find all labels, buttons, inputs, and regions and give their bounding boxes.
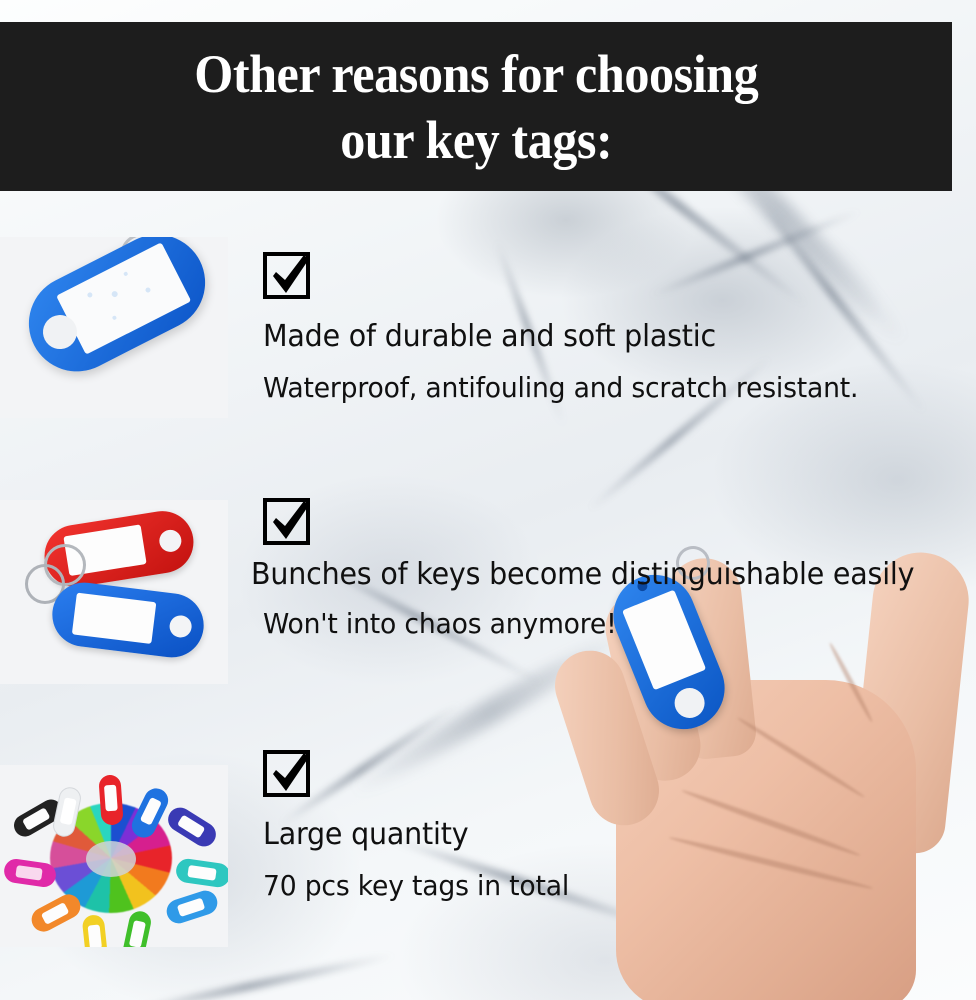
header-banner: Other reasons for choosing our key tags:	[0, 22, 952, 191]
blue-key-tag	[49, 579, 208, 661]
promo-page: Other reasons for choosing our key tags:	[0, 0, 976, 1000]
feature-3-subtitle: 70 pcs key tags in total	[263, 868, 569, 904]
checkbox-1[interactable]	[263, 252, 310, 299]
feature-thumbnail-3	[0, 765, 228, 947]
checkbox-2[interactable]	[263, 498, 310, 545]
feature-thumbnail-2	[0, 500, 228, 684]
header-line-1: Other reasons for choosing	[194, 41, 758, 107]
feature-1-title: Made of durable and soft plastic	[263, 318, 858, 356]
feature-2-title: Bunches of keys become distinguishable e…	[251, 556, 914, 594]
feature-thumbnail-1	[0, 237, 228, 418]
feature-2-text: Bunches of keys become distinguishable e…	[251, 556, 949, 642]
checkbox-3[interactable]	[263, 750, 310, 797]
feature-3-text: Large quantity 70 pcs key tags in total	[263, 816, 585, 904]
blue-key-tag	[12, 237, 221, 388]
header-line-2: our key tags:	[340, 107, 612, 173]
feature-1-text: Made of durable and soft plastic Waterpr…	[263, 318, 890, 406]
feature-1-subtitle: Waterproof, antifouling and scratch resi…	[263, 370, 858, 406]
feature-3-title: Large quantity	[263, 816, 569, 854]
feature-2-subtitle: Won't into chaos anymore!	[263, 606, 915, 642]
